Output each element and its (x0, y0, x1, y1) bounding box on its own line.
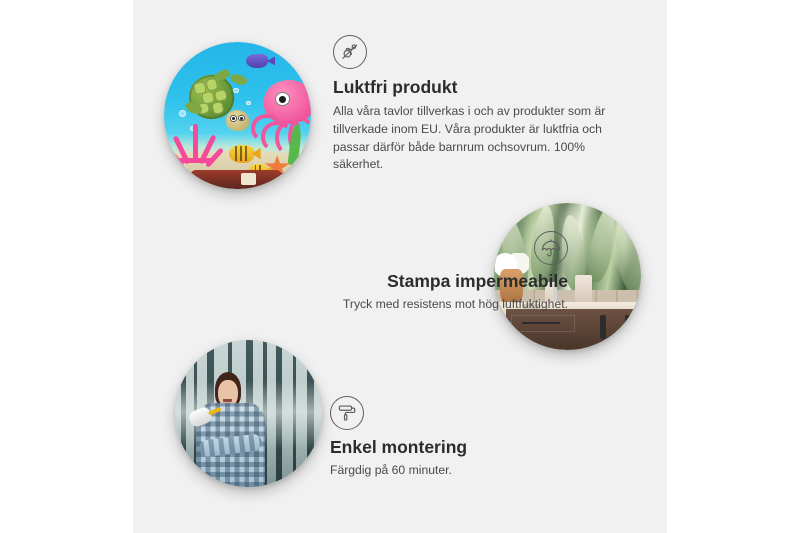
turtle-head (226, 110, 250, 130)
feature-title: Luktfri produkt (333, 77, 623, 99)
feature-description: Alla våra tavlor tillverkas i och av pro… (333, 103, 623, 174)
dispenser-bottle (575, 275, 593, 304)
feature-block-easy-mounting: Enkel montering Färgdig på 60 minuter. (330, 396, 610, 480)
feature-block-waterproof: Stampa impermeabile Tryck med resistens … (218, 231, 568, 314)
feature-image-woman-painter (175, 340, 322, 487)
woman-figure (193, 372, 275, 487)
feature-block-odour-free: Luktfri produkt Alla våra tavlor tillver… (333, 35, 623, 174)
feature-description: Färgdig på 60 minuter. (330, 462, 610, 480)
feature-title: Stampa impermeabile (218, 271, 568, 293)
octopus-icon (249, 80, 311, 151)
infographic-canvas: Luktfri produkt Alla våra tavlor tillver… (133, 0, 667, 533)
wooden-vanity (506, 309, 641, 350)
blue-fish-icon (246, 54, 268, 69)
no-smell-icon (333, 35, 367, 69)
umbrella-icon (534, 231, 568, 265)
feature-image-underwater-scene (164, 42, 311, 189)
pink-coral-icon (173, 124, 220, 174)
product-feature-infographic: Luktfri produkt Alla våra tavlor tillver… (0, 0, 800, 533)
feature-description: Tryck med resistens mot hög luftfuktighe… (218, 296, 568, 314)
yellow-fish-icon (229, 145, 254, 163)
shipwreck-icon (190, 170, 281, 189)
paint-roller-icon (330, 396, 364, 430)
feature-title: Enkel montering (330, 437, 610, 459)
